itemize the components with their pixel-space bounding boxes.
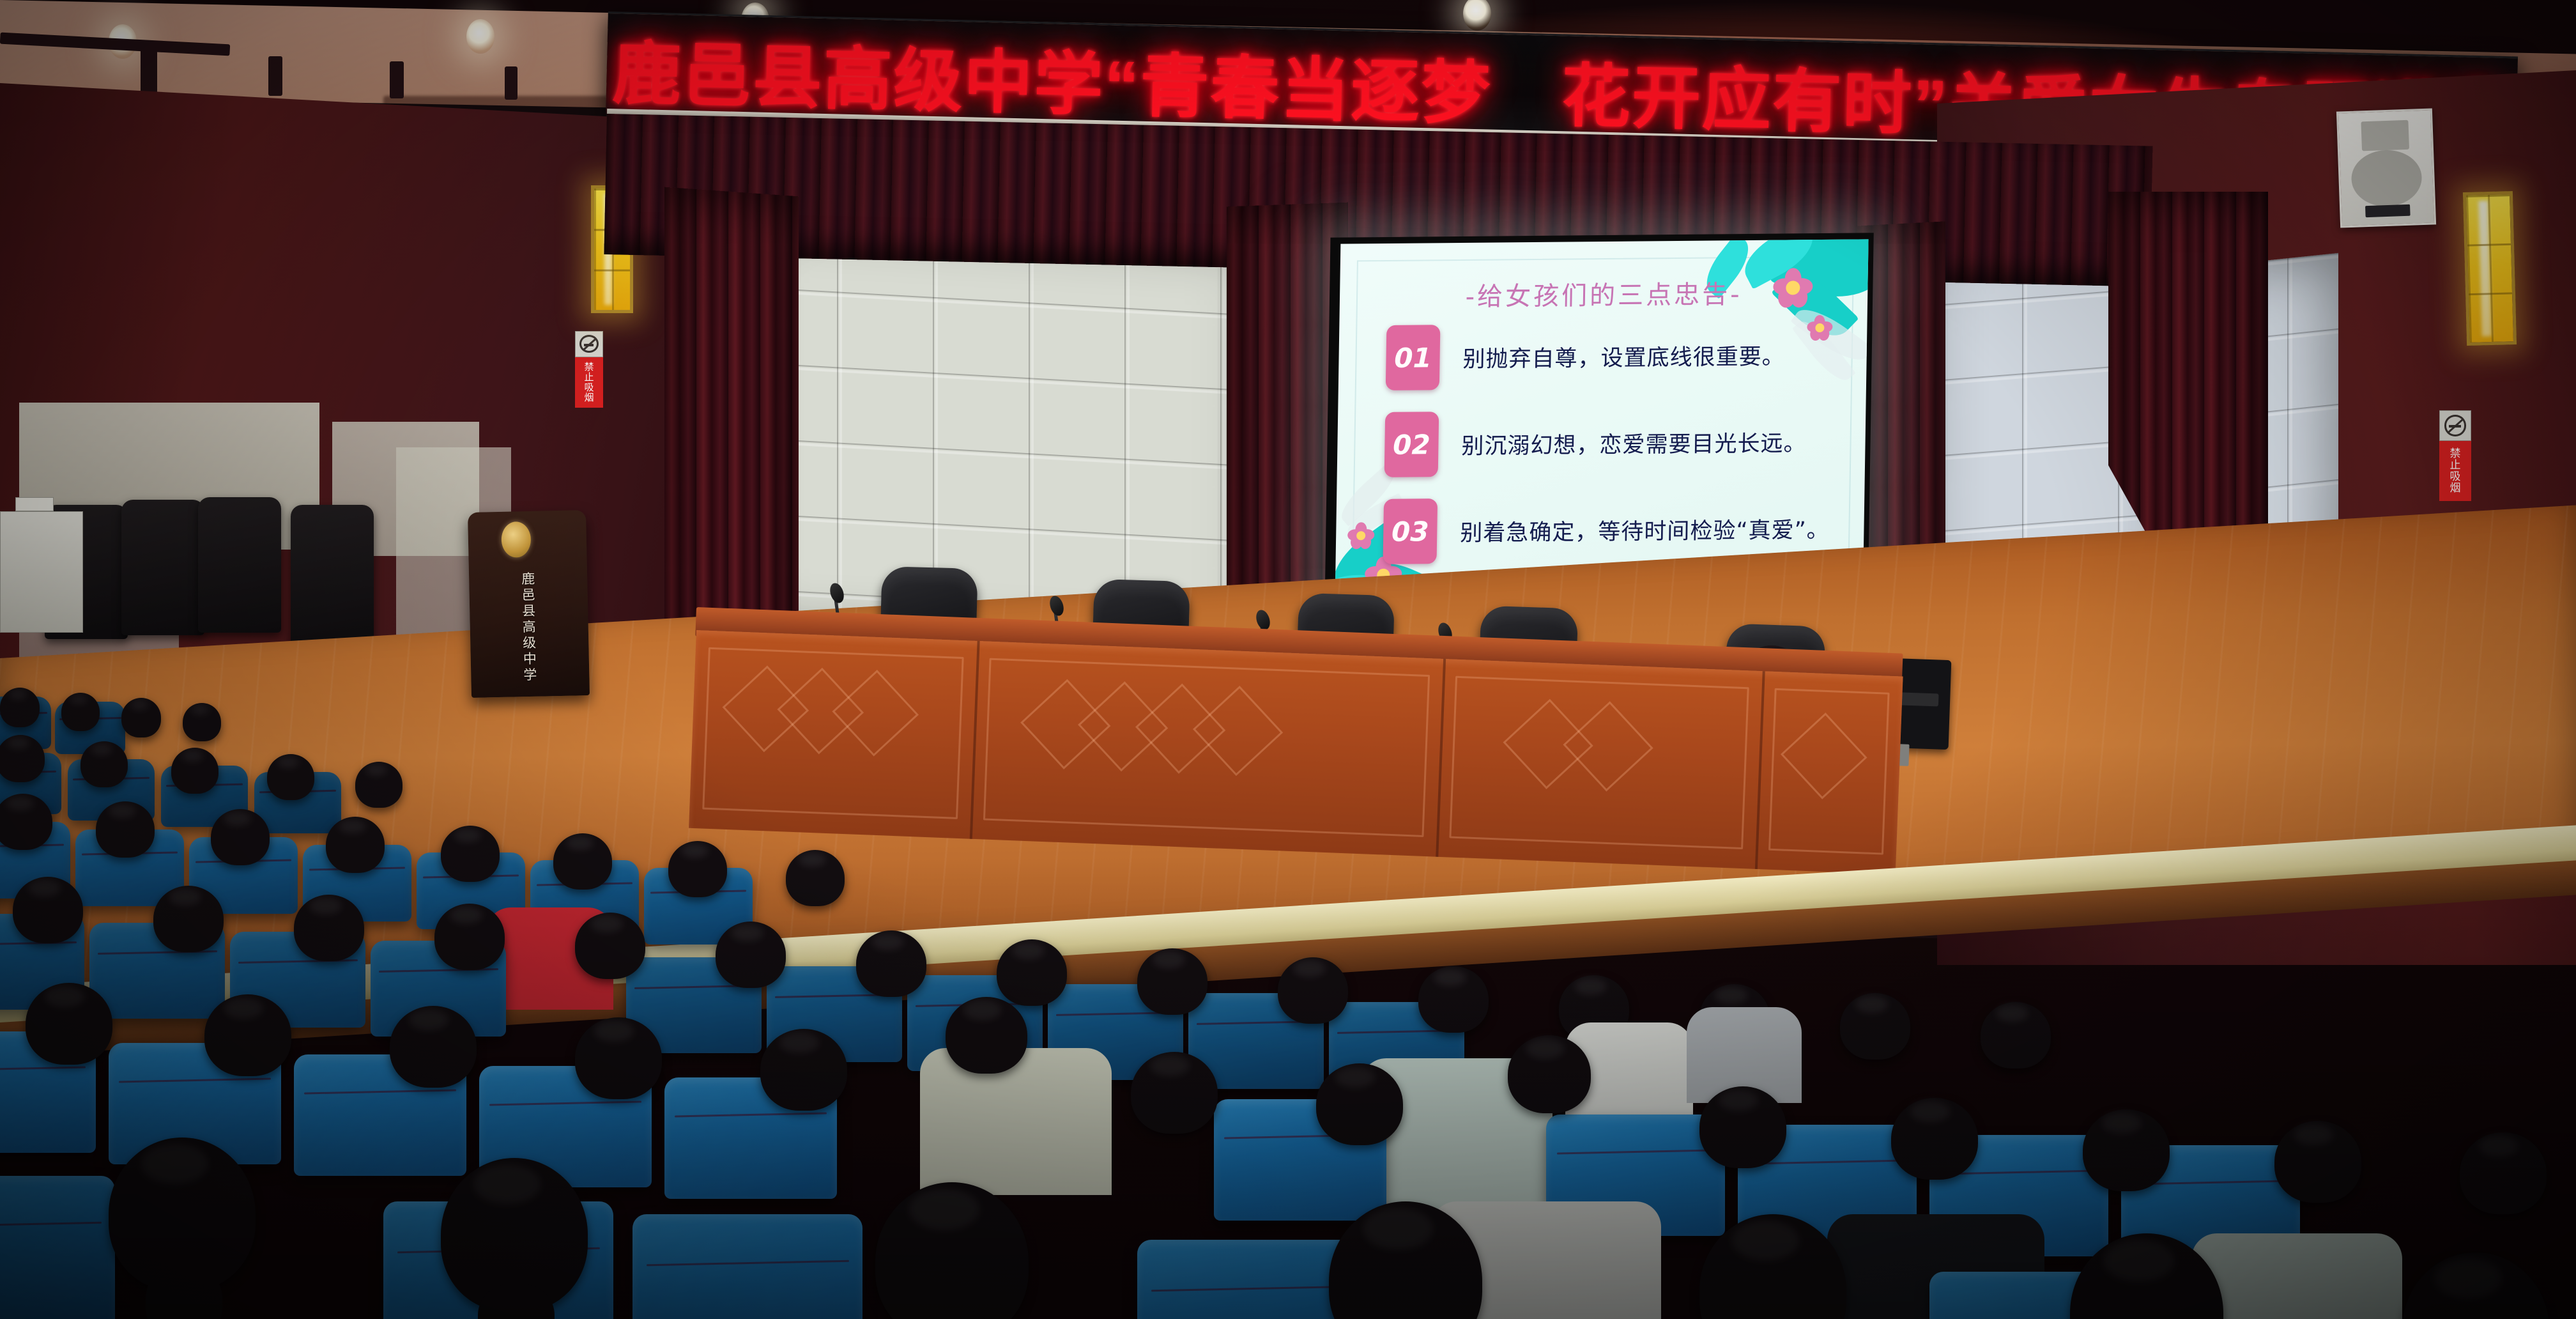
ceiling-truss-drop xyxy=(268,56,282,96)
student-head xyxy=(1699,1086,1786,1168)
student-head xyxy=(183,703,221,741)
student-head xyxy=(0,794,52,850)
no-smoking-sign: 禁 止 吸 烟 xyxy=(2439,410,2471,501)
student-head xyxy=(153,886,224,952)
wall-sconce xyxy=(2463,191,2517,346)
no-smoking-icon xyxy=(2439,410,2471,441)
student-head xyxy=(2274,1121,2361,1203)
no-smoking-label: 禁 止 吸 烟 xyxy=(2439,441,2471,501)
student-head xyxy=(121,698,161,737)
student-head xyxy=(441,826,500,882)
student-torso xyxy=(920,1048,1112,1195)
student-head xyxy=(1891,1098,1978,1180)
advice-text: 别沉溺幻想，恋爱需要目光长远。 xyxy=(1461,425,1807,461)
stage-side-chair xyxy=(291,505,374,647)
student-head xyxy=(13,877,83,943)
table-panel xyxy=(702,647,963,819)
advice-number-badge: 02 xyxy=(1384,412,1439,477)
student-head xyxy=(390,1006,477,1088)
slide-advice-item: 01 别抛弃自尊，设置底线很重要。 xyxy=(1386,321,1848,390)
advice-text: 别抛弃自尊，设置底线很重要。 xyxy=(1462,338,1785,373)
advice-number-badge: 01 xyxy=(1386,325,1441,390)
flower-icon xyxy=(1347,522,1375,549)
student-head xyxy=(61,693,100,731)
student-head xyxy=(2402,1253,2549,1319)
student-head xyxy=(434,904,505,970)
student-head xyxy=(1137,948,1207,1015)
ceiling-truss-drop xyxy=(505,66,517,100)
student-head xyxy=(1840,993,1910,1060)
student-head xyxy=(2460,1132,2547,1214)
student-head xyxy=(1316,1063,1403,1145)
school-emblem-icon xyxy=(501,521,531,558)
no-smoking-icon xyxy=(575,331,603,357)
student-head xyxy=(716,922,786,988)
auditorium-photo: 鹿邑县高级中学“青春当逐梦 花开应有时”关爱女生专题讲座 禁 止 吸 烟 xyxy=(0,0,2576,1319)
student-head xyxy=(96,801,155,858)
ceiling-truss-drop xyxy=(141,47,157,93)
student-head xyxy=(26,983,112,1065)
advice-text: 别着急确定，等待时间检验“真爱”。 xyxy=(1460,511,1830,547)
student-head xyxy=(204,994,291,1076)
audience-seat xyxy=(632,1214,862,1319)
stage-side-chair xyxy=(198,497,281,633)
student-head xyxy=(0,688,40,727)
power-outlet-panel xyxy=(15,497,54,511)
table-panel xyxy=(1449,676,1749,849)
student-head xyxy=(997,939,1067,1006)
no-smoking-sign: 禁 止 吸 烟 xyxy=(575,331,603,408)
student-head xyxy=(355,762,402,808)
no-smoking-label: 禁 止 吸 烟 xyxy=(575,357,603,408)
student-head xyxy=(0,735,45,782)
student-head xyxy=(946,997,1027,1074)
student-ponytail xyxy=(146,1265,222,1319)
student-head xyxy=(1508,1035,1591,1113)
student-head xyxy=(80,741,128,787)
student-head xyxy=(171,748,218,794)
ceiling-spotlight xyxy=(466,19,494,54)
student-head xyxy=(856,930,926,997)
student-head xyxy=(294,895,364,961)
table-panel xyxy=(1768,688,1890,855)
podium: 鹿 邑 县 高 级 中 学 xyxy=(468,510,590,698)
student-head xyxy=(211,809,270,865)
audience-seat xyxy=(0,1176,115,1319)
student-head xyxy=(668,841,727,897)
student-head xyxy=(575,913,645,979)
student-head xyxy=(1981,1002,2051,1068)
student-head xyxy=(2083,1109,2170,1191)
slide-advice-item: 02 别沉溺幻想，恋爱需要目光长远。 xyxy=(1384,408,1847,477)
student-head xyxy=(1278,957,1348,1024)
student-head xyxy=(326,817,385,873)
ceiling-truss-drop xyxy=(390,61,404,98)
student-head xyxy=(1418,966,1489,1033)
equipment-cabinet xyxy=(0,511,83,633)
student-head xyxy=(875,1182,1029,1319)
student-head xyxy=(760,1029,847,1111)
student-head xyxy=(1131,1052,1218,1134)
stage-side-chair xyxy=(121,500,204,635)
student-head xyxy=(553,833,612,890)
student-head xyxy=(786,850,845,906)
podium-school-name: 鹿 邑 县 高 级 中 学 xyxy=(469,571,590,683)
slide-advice-list: 01 别抛弃自尊，设置底线很重要。 02 别沉溺幻想，恋爱需要目光长远。 03 … xyxy=(1383,321,1848,586)
advice-number-badge: 03 xyxy=(1383,498,1438,564)
slide-title: -给女孩们的三点忠告- xyxy=(1340,272,1868,314)
student-head xyxy=(267,754,314,800)
table-panel xyxy=(983,658,1430,837)
student-head xyxy=(575,1017,662,1099)
wall-speaker xyxy=(2336,108,2436,228)
